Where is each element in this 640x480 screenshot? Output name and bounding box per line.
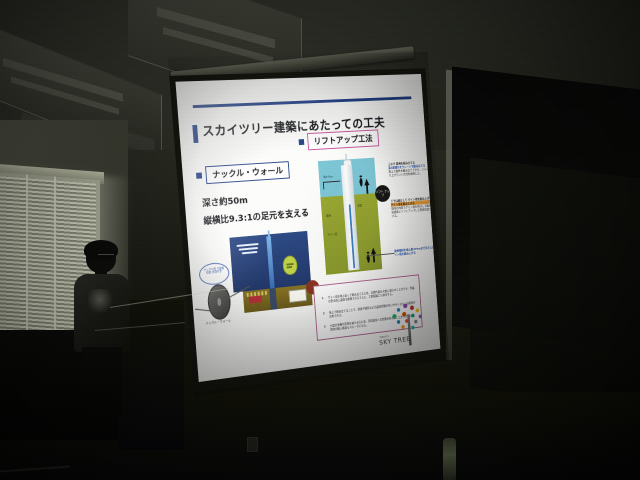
- up-arrow-icon: [364, 179, 370, 186]
- dark-wall-panel: [470, 158, 640, 409]
- skytree-logo: TOKYO SKY TREE: [376, 299, 433, 352]
- right-section-heading: リフトアップ工法: [298, 129, 379, 150]
- annotation-2: 下では組立して ゲイン塔を組み上げる ゲイン塔を組み上げる 塔体の内側でゲイン塔…: [391, 196, 439, 219]
- zoom-caption: ナックル・ウォール: [206, 318, 232, 325]
- logo-dot: [402, 312, 406, 317]
- dimension-label: 鉄骨: [326, 214, 331, 218]
- logo-dot: [419, 314, 422, 318]
- dimension-label: 塔体: [357, 204, 362, 208]
- bottle: [443, 438, 456, 480]
- logo-dot: [397, 308, 401, 312]
- projection-screen-assembly: スカイツリー建築にあたっての工夫 ナックル・ウォール 深さ約50m 縦横比9.3…: [181, 58, 475, 398]
- red-marker: [249, 295, 262, 303]
- wing-logo-icon: [236, 243, 261, 256]
- liftup-illustration: 約375m 鉄骨 ゲイン塔 塔体: [318, 158, 382, 275]
- screen-border: スカイツリー建築にあたっての工夫 ナックル・ウォール 深さ約50m 縦横比9.3…: [169, 68, 446, 392]
- up-arrow-icon: [371, 247, 376, 254]
- logo-dot: [411, 314, 415, 318]
- logo-dot: [411, 325, 415, 329]
- square-bullet-icon: [196, 172, 202, 178]
- logo-dot: [416, 308, 419, 312]
- right-section-label: リフトアップ工法: [307, 129, 379, 150]
- logo-dot: [397, 320, 401, 324]
- logo-dot: [414, 320, 418, 324]
- foundation-illustration: [229, 231, 312, 314]
- left-line-2: 縦横比9.3:1の足元を支える: [203, 206, 309, 227]
- shirt-print: [88, 289, 114, 315]
- projection-surface: スカイツリー建築にあたっての工夫 ナックル・ウォール 深さ約50m 縦横比9.3…: [175, 74, 440, 382]
- presenter-legs: [82, 347, 122, 417]
- blind-cord: [54, 176, 56, 352]
- zoom-callout-text: ナックル部 で摩擦抵抗 を増やす: [202, 267, 225, 276]
- logo-dot: [401, 325, 405, 329]
- annotation-1: 上ホで 鉄骨を組み立てる 第1節部分をクレーンで組み立てる 地上で鉄骨を組み立て…: [388, 159, 436, 177]
- logo-dot: [410, 305, 414, 310]
- zoom-callout-bubble: ナックル部 で摩擦抵抗 を増やす: [198, 262, 230, 287]
- logo-dot: [403, 303, 407, 308]
- left-section-heading: ナックル・ウォール: [196, 161, 290, 185]
- left-line-1: 深さ約50m: [202, 193, 249, 209]
- wall-outlet: [247, 437, 258, 452]
- dimension-label: 約375m: [323, 175, 333, 179]
- ground-note-box: [288, 289, 307, 303]
- scale-person-icon: [359, 175, 364, 187]
- title-accent-bar: [192, 125, 198, 143]
- logo-dot: [392, 314, 396, 319]
- photo-scene: スカイツリー建築にあたっての工夫 ナックル・ウォール 深さ約50m 縦横比9.3…: [0, 0, 640, 480]
- presenter-glasses: [98, 254, 114, 259]
- blind-cord: [26, 174, 28, 350]
- slide: スカイツリー建築にあたっての工夫 ナックル・ウォール 深さ約50m 縦横比9.3…: [175, 74, 440, 382]
- liftup-badge: リフト アップ: [375, 185, 391, 203]
- annotation-3: 鉄骨部材を地上約375mまで吊り上げて ゲイン塔を組み上げる: [394, 245, 440, 257]
- left-section-label: ナックル・ウォール: [205, 161, 290, 184]
- square-bullet-icon: [299, 139, 305, 145]
- title-rule: [193, 96, 412, 108]
